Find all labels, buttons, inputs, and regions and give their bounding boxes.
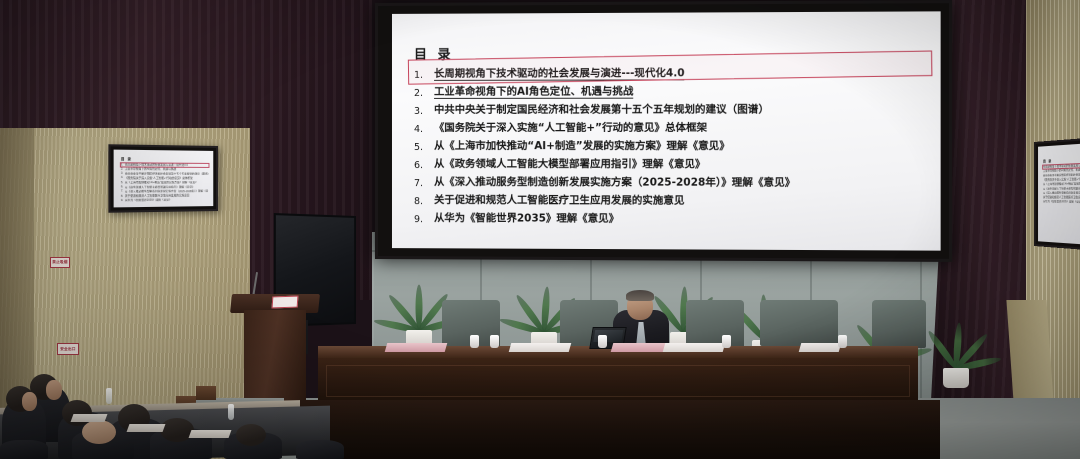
audience-bottle-1 <box>106 388 112 404</box>
left-monitor-line-1: 1. 长周期视角下技术驱动的社会发展与演进---现代化4.0 <box>121 163 209 167</box>
agenda-list: 1. 长周期视角下技术驱动的社会发展与演进---现代化4.0 2. 工业革命视角… <box>414 65 932 231</box>
audience-person-2-face <box>22 392 37 411</box>
right-monitor-line-4: 《国务院关于深入实施“人工智能+”行动的意见》总体框架 <box>1043 177 1080 181</box>
agenda-item-2-text: 工业革命视角下的AI角色定位、机遇与挑战 <box>434 84 633 101</box>
emergency-exit-sign-label: 安全出口 <box>60 347 76 351</box>
projection-screen-surface: 目 录 1. 长周期视角下技术驱动的社会发展与演进---现代化4.0 2. 工业… <box>392 11 941 250</box>
left-monitor-line-3: 3. 中共中央关于制定国民经济和社会发展第十五个五年规划的建议（图谱） <box>121 172 209 175</box>
left-monitor-line-5: 5. 从《上海市加快推动“AI+制造”发展的实施方案》理解《意见》 <box>121 181 209 184</box>
rm8-text: 关于促进和规范人工智能医疗卫生应用发展的实施意见 <box>1043 195 1080 199</box>
rm6-text: 从《政务领域人工智能大模型部署应用指引》理解《意见》 <box>1043 186 1080 190</box>
audience-person-1-face <box>46 380 62 400</box>
agenda-item-9-text: 从华为《智能世界2035》理解《意见》 <box>434 210 619 228</box>
left-monitor-line-2: 2. 工业革命视角下的AI角色定位、机遇与挑战 <box>121 167 209 171</box>
stage-apron <box>300 400 940 459</box>
lm1-text: 长周期视角下技术驱动的社会发展与演进---现代化4.0 <box>125 163 188 167</box>
rm3-text: 中共中央关于制定国民经济和社会发展第十五个五年规划的建议（图谱） <box>1043 172 1080 177</box>
table-cup-4 <box>722 335 731 348</box>
lm6-num: 6. <box>121 185 123 188</box>
lm4-num: 4. <box>121 176 123 179</box>
lm9-text: 从华为《智能世界2035》理解《意见》 <box>125 198 172 202</box>
left-monitor-line-8: 8. 关于促进和规范人工智能医疗卫生应用发展的实施意见 <box>121 194 209 198</box>
table-cup-5 <box>838 335 847 348</box>
lm2-text: 工业革命视角下的AI角色定位、机遇与挑战 <box>125 167 176 171</box>
podium-body <box>244 310 306 406</box>
conference-hall-photo: 禁止吸烟 安全出口 目 录 1. 长周期视角下技术驱动的社会发展与演进---现代… <box>0 0 1080 459</box>
right-wall-monitor-surface: 目 录 长周期视角下技术驱动的社会发展与演进---现代化4.0 工业革命视角下的… <box>1038 143 1080 245</box>
lm7-text: 从《深入推动服务型制造创新发展实施方案（2025-2028年）》理解《意见》 <box>125 189 209 193</box>
agenda-item-4: 4. 《国务院关于深入实施“人工智能+”行动的意见》总体框架 <box>414 120 932 138</box>
agenda-item-6-text: 从《政务领域人工智能大模型部署应用指引》理解《意见》 <box>434 156 705 173</box>
table-cup-3 <box>598 335 607 348</box>
audience-person-8 <box>0 440 48 459</box>
emergency-exit-sign: 安全出口 <box>57 343 79 355</box>
agenda-item-8-text: 关于促进和规范人工智能医疗卫生应用发展的实施意见 <box>434 192 684 210</box>
right-monitor-line-3: 中共中央关于制定国民经济和社会发展第十五个五年规划的建议（图谱） <box>1043 172 1080 177</box>
lm6-text: 从《政务领域人工智能大模型部署应用指引》理解《意见》 <box>125 185 195 189</box>
slide-content: 目 录 1. 长周期视角下技术驱动的社会发展与演进---现代化4.0 2. 工业… <box>414 42 932 244</box>
agenda-item-1-text: 长周期视角下技术驱动的社会发展与演进---现代化4.0 <box>434 65 685 83</box>
placemat-4 <box>509 343 572 352</box>
agenda-item-9: 9. 从华为《智能世界2035》理解《意见》 <box>414 210 932 230</box>
audience-bottle-2 <box>228 404 234 420</box>
placemat-3 <box>663 343 726 352</box>
table-cup-1 <box>470 335 479 348</box>
right-monitor-line-9: 从华为《智能世界2035》理解《意见》 <box>1043 200 1080 204</box>
agenda-item-5: 5. 从《上海市加快推动“AI+制造”发展的实施方案》理解《意见》 <box>414 138 932 157</box>
chair-3 <box>686 300 744 348</box>
agenda-item-6: 6. 从《政务领域人工智能大模型部署应用指引》理解《意见》 <box>414 156 932 175</box>
agenda-item-9-number: 9. <box>414 210 434 228</box>
left-wall-monitor-surface: 目 录 1. 长周期视角下技术驱动的社会发展与演进---现代化4.0 2. 工业… <box>114 150 214 208</box>
left-monitor-line-4: 4. 《国务院关于深入实施“人工智能+”行动的意见》总体框架 <box>121 176 209 179</box>
agenda-item-1-number: 1. <box>414 66 434 84</box>
audience-person-6-head <box>160 418 194 442</box>
rm5-text: 从《上海市加快推动“AI+制造”发展的实施方案》理解《意见》 <box>1043 182 1080 186</box>
audience-paper-3 <box>189 430 232 438</box>
left-monitor-title: 目 录 <box>121 156 209 162</box>
lm8-text: 关于促进和规范人工智能医疗卫生应用发展的实施意见 <box>125 194 190 198</box>
placemat-5 <box>799 343 842 352</box>
agenda-item-1: 1. 长周期视角下技术驱动的社会发展与演进---现代化4.0 <box>414 65 932 84</box>
rm9-text: 从华为《智能世界2035》理解《意见》 <box>1043 200 1080 204</box>
lm1-num: 1. <box>121 163 123 166</box>
lm4-text: 《国务院关于深入实施“人工智能+”行动的意见》总体框架 <box>125 176 193 179</box>
audience-paper-1 <box>71 414 108 422</box>
lm8-num: 8. <box>121 194 123 197</box>
plant-6 <box>932 276 980 388</box>
audience-person-5-head <box>82 420 116 444</box>
plant-6-pot <box>943 368 969 388</box>
placemat-1 <box>385 343 448 352</box>
lm2-num: 2. <box>121 167 123 170</box>
lm5-text: 从《上海市加快推动“AI+制造”发展的实施方案》理解《意见》 <box>125 181 198 184</box>
right-wall-monitor: 目 录 长周期视角下技术驱动的社会发展与演进---现代化4.0 工业革命视角下的… <box>1034 137 1080 251</box>
plant-1 <box>396 276 442 350</box>
podium-sign <box>272 296 299 309</box>
agenda-item-2-number: 2. <box>414 84 434 102</box>
chair-4 <box>760 300 838 346</box>
agenda-item-8: 8. 关于促进和规范人工智能医疗卫生应用发展的实施意见 <box>414 192 932 212</box>
agenda-item-7-number: 7. <box>414 174 434 192</box>
projection-screen: 目 录 1. 长周期视角下技术驱动的社会发展与演进---现代化4.0 2. 工业… <box>375 0 952 262</box>
no-smoking-sign-label: 禁止吸烟 <box>52 260 68 264</box>
head-table-front <box>318 358 918 406</box>
rm7-text: 从《深入推动服务型制造创新发展实施方案（2025-2028年）》理解《意见》 <box>1043 191 1080 194</box>
agenda-item-7-text: 从《深入推动服务型制造创新发展实施方案（2025-2028年）》理解《意见》 <box>434 174 795 192</box>
audience-person-7-head <box>236 424 266 446</box>
slide-title: 目 录 <box>414 42 932 63</box>
rm4-text: 《国务院关于深入实施“人工智能+”行动的意见》总体框架 <box>1043 177 1080 181</box>
agenda-item-5-text: 从《上海市加快推动“AI+制造”发展的实施方案》理解《意见》 <box>434 138 730 155</box>
left-monitor-line-6: 6. 从《政务领域人工智能大模型部署应用指引》理解《意见》 <box>121 185 209 189</box>
left-monitor-line-9: 9. 从华为《智能世界2035》理解《意见》 <box>121 198 209 202</box>
agenda-item-7: 7. 从《深入推动服务型制造创新发展实施方案（2025-2028年）》理解《意见… <box>414 174 932 193</box>
audience-person-9 <box>296 440 344 459</box>
lm3-num: 3. <box>121 172 123 175</box>
right-monitor-line-5: 从《上海市加快推动“AI+制造”发展的实施方案》理解《意见》 <box>1043 182 1080 186</box>
speaker-hair <box>626 290 654 301</box>
agenda-item-3: 3. 中共中央关于制定国民经济和社会发展第十五个五年规划的建议（图谱） <box>414 101 932 120</box>
lm3-text: 中共中央关于制定国民经济和社会发展第十五个五年规划的建议（图谱） <box>125 172 209 175</box>
stage-step-riser-1 <box>196 386 216 400</box>
lm7-num: 7. <box>121 190 123 193</box>
agenda-item-3-text: 中共中央关于制定国民经济和社会发展第十五个五年规划的建议（图谱） <box>434 102 769 119</box>
right-monitor-title: 目 录 <box>1043 156 1080 164</box>
agenda-item-6-number: 6. <box>414 156 434 174</box>
right-monitor-line-6: 从《政务领域人工智能大模型部署应用指引》理解《意见》 <box>1043 186 1080 190</box>
agenda-item-4-text: 《国务院关于深入实施“人工智能+”行动的意见》总体框架 <box>434 120 707 137</box>
left-wall-monitor: 目 录 1. 长周期视角下技术驱动的社会发展与演进---现代化4.0 2. 工业… <box>108 144 218 213</box>
agenda-item-3-number: 3. <box>414 102 434 120</box>
right-monitor-line-7: 从《深入推动服务型制造创新发展实施方案（2025-2028年）》理解《意见》 <box>1043 191 1080 194</box>
agenda-item-2: 2. 工业革命视角下的AI角色定位、机遇与挑战 <box>414 83 932 102</box>
lm5-num: 5. <box>121 181 123 184</box>
agenda-item-5-number: 5. <box>414 138 434 156</box>
no-smoking-sign: 禁止吸烟 <box>50 257 70 268</box>
left-monitor-line-7: 7. 从《深入推动服务型制造创新发展实施方案（2025-2028年）》理解《意见… <box>121 189 209 193</box>
table-cup-2 <box>490 335 499 348</box>
right-monitor-line-8: 关于促进和规范人工智能医疗卫生应用发展的实施意见 <box>1043 195 1080 199</box>
lm9-num: 9. <box>121 199 123 202</box>
agenda-item-4-number: 4. <box>414 120 434 138</box>
agenda-item-8-number: 8. <box>414 192 434 210</box>
audience-paper-2 <box>127 424 166 432</box>
chair-5 <box>872 300 926 348</box>
